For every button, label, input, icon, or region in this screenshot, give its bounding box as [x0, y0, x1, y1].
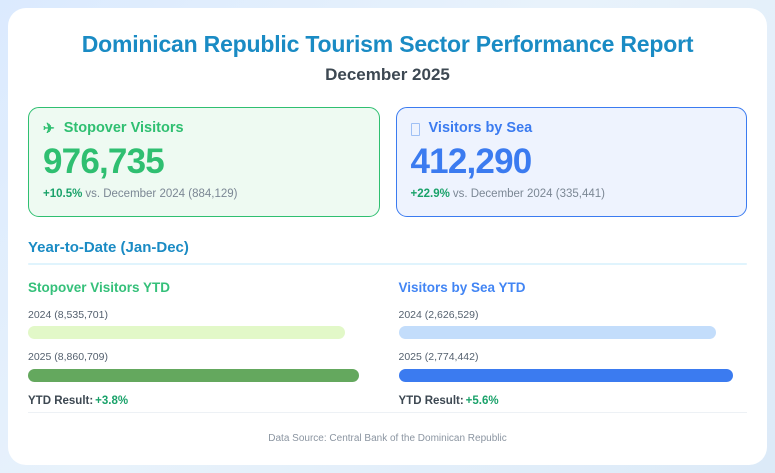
kpi-value-sea: 412,290	[411, 142, 733, 181]
kpi-header-sea: Visitors by Sea	[411, 121, 733, 136]
bar-label-stopover-2024: 2024 (8,535,701)	[28, 309, 377, 322]
bar-label-sea-2025: 2025 (2,774,442)	[399, 351, 748, 364]
footer-divider	[28, 412, 747, 413]
ytd-result-sea: YTD Result:+5.6%	[399, 395, 748, 407]
bar-fill-sea-2024	[399, 326, 716, 339]
kpi-label-stopover: Stopover Visitors	[64, 121, 184, 136]
ytd-column-stopover: Stopover Visitors YTD 2024 (8,535,701) 2…	[28, 280, 377, 406]
kpi-value-stopover: 976,735	[43, 142, 365, 181]
ytd-title-stopover: Stopover Visitors YTD	[28, 280, 377, 296]
bar-track-sea-2025	[399, 369, 748, 382]
kpi-label-sea: Visitors by Sea	[429, 121, 533, 136]
ship-icon	[411, 123, 420, 136]
bar-fill-sea-2025	[399, 369, 734, 382]
ytd-columns: Stopover Visitors YTD 2024 (8,535,701) 2…	[28, 280, 747, 406]
kpi-compare-sea: vs. December 2024 (335,441)	[453, 188, 605, 200]
ytd-title-sea: Visitors by Sea YTD	[399, 280, 748, 296]
airplane-icon: ✈	[43, 121, 55, 135]
ytd-result-value-stopover: +3.8%	[95, 395, 128, 407]
ytd-result-label-stopover: YTD Result:	[28, 395, 93, 407]
data-source-note: Data Source: Central Bank of the Dominic…	[8, 433, 767, 444]
kpi-delta-row-sea: +22.9%vs. December 2024 (335,441)	[411, 187, 733, 202]
report-period-subtitle: December 2025	[8, 65, 767, 85]
ytd-column-sea: Visitors by Sea YTD 2024 (2,626,529) 202…	[399, 280, 748, 406]
kpi-card-visitors-by-sea: Visitors by Sea 412,290 +22.9%vs. Decemb…	[396, 107, 748, 218]
report-header: Dominican Republic Tourism Sector Perfor…	[8, 8, 767, 85]
page-title: Dominican Republic Tourism Sector Perfor…	[8, 30, 767, 59]
ytd-section-heading: Year-to-Date (Jan-Dec)	[28, 239, 747, 256]
kpi-compare-stopover: vs. December 2024 (884,129)	[85, 188, 237, 200]
ytd-result-value-sea: +5.6%	[466, 395, 499, 407]
bar-label-stopover-2025: 2025 (8,860,709)	[28, 351, 377, 364]
kpi-card-stopover-visitors: ✈ Stopover Visitors 976,735 +10.5%vs. De…	[28, 107, 380, 218]
kpi-delta-row-stopover: +10.5%vs. December 2024 (884,129)	[43, 187, 365, 202]
bar-fill-stopover-2024	[28, 326, 345, 339]
ytd-result-label-sea: YTD Result:	[399, 395, 464, 407]
bar-label-sea-2024: 2024 (2,626,529)	[399, 309, 748, 322]
bar-track-stopover-2025	[28, 369, 377, 382]
kpi-card-row: ✈ Stopover Visitors 976,735 +10.5%vs. De…	[8, 107, 767, 218]
report-card: Dominican Republic Tourism Sector Perfor…	[8, 8, 767, 465]
kpi-header-stopover: ✈ Stopover Visitors	[43, 121, 365, 136]
bar-track-stopover-2024	[28, 326, 377, 339]
ytd-divider	[28, 263, 747, 265]
bar-fill-stopover-2025	[28, 369, 359, 382]
ytd-result-stopover: YTD Result:+3.8%	[28, 395, 377, 407]
bar-track-sea-2024	[399, 326, 748, 339]
kpi-delta-sea: +22.9%	[411, 188, 450, 200]
year-to-date-section: Year-to-Date (Jan-Dec) Stopover Visitors…	[8, 239, 767, 406]
kpi-delta-stopover: +10.5%	[43, 188, 82, 200]
